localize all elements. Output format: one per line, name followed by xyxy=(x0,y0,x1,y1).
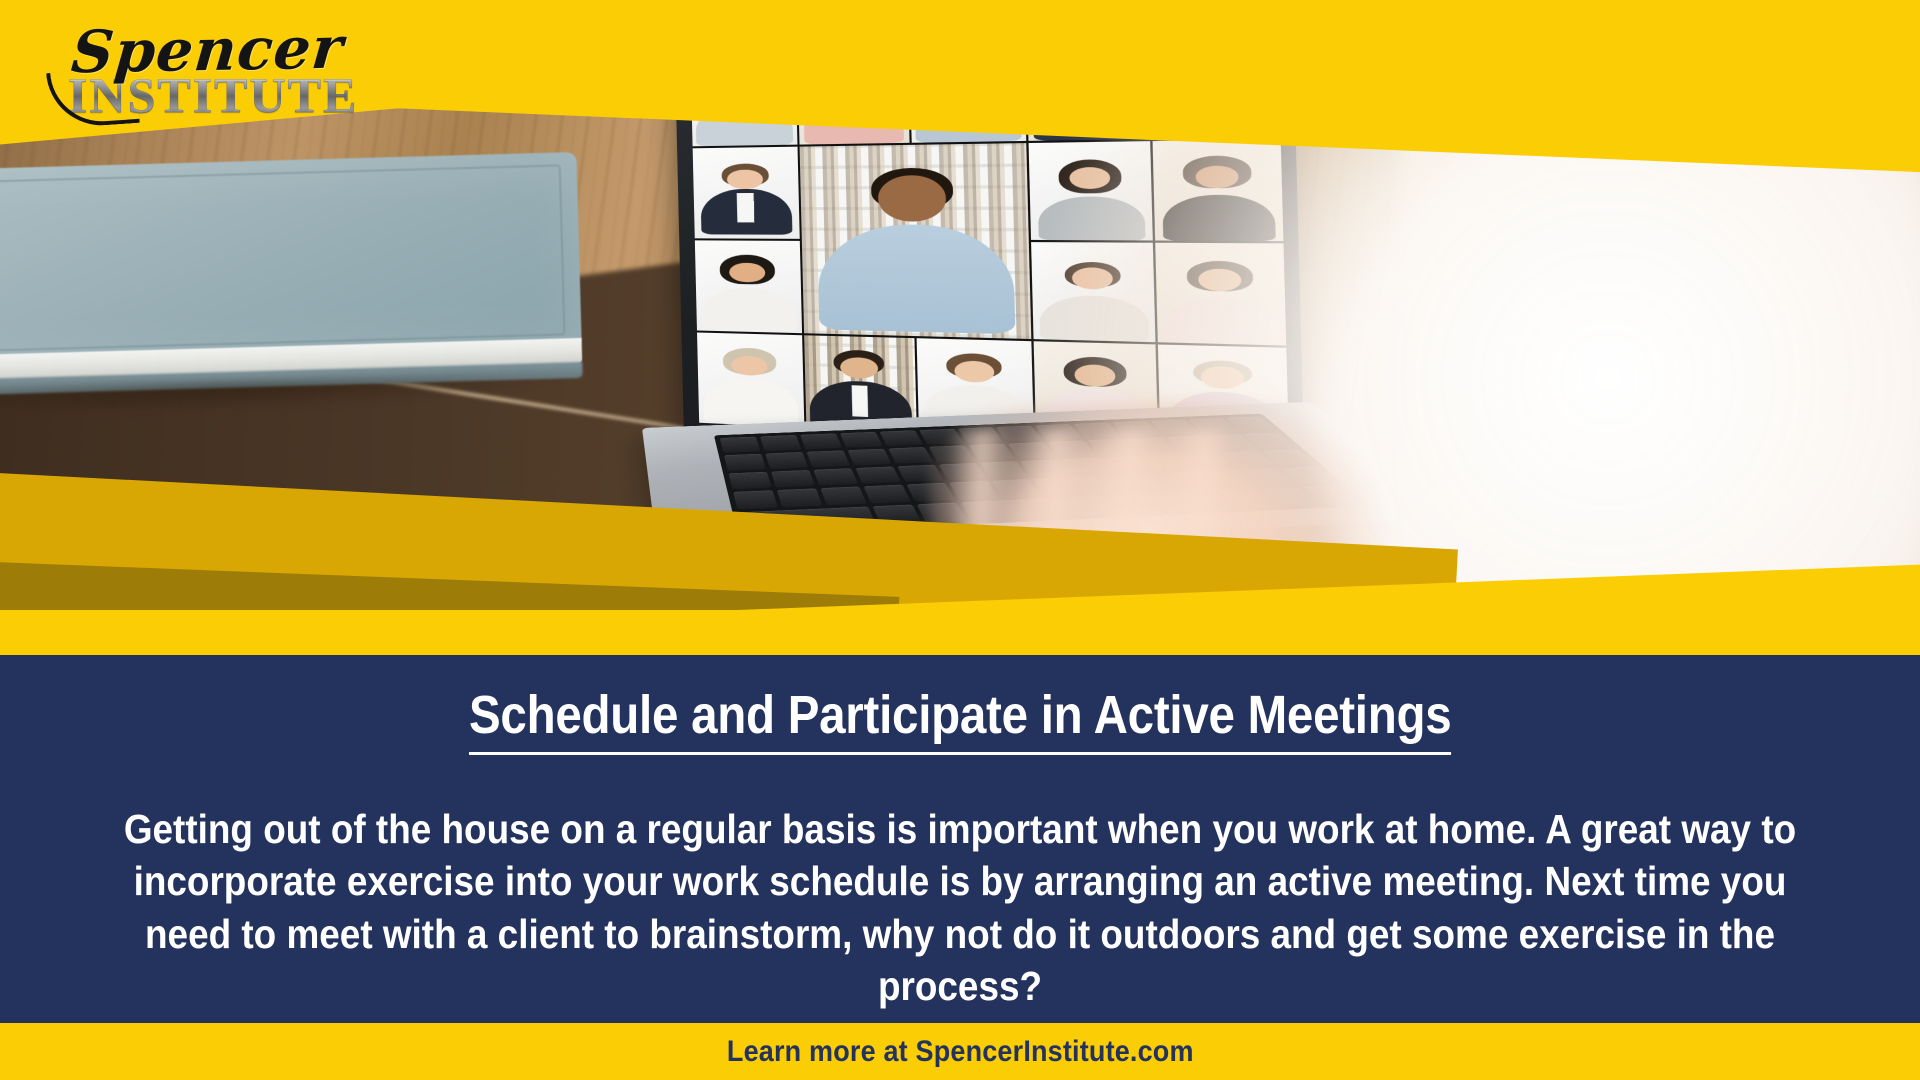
participant-tile xyxy=(697,332,804,427)
body-paragraph: Getting out of the house on a regular ba… xyxy=(114,803,1806,1013)
page-title: Schedule and Participate in Active Meeti… xyxy=(469,687,1451,755)
slide-canvas: INSTITUTE Spencer Schedule and Participa… xyxy=(0,0,1920,1080)
participant-tile xyxy=(693,147,800,239)
notebook-cover xyxy=(0,152,582,367)
footer-cta-text[interactable]: Learn more at SpencerInstitute.com xyxy=(727,1035,1194,1069)
yellow-fill-bottom xyxy=(0,610,1920,655)
footer-bar: Learn more at SpencerInstitute.com xyxy=(0,1023,1920,1080)
content-panel: Schedule and Participate in Active Meeti… xyxy=(0,655,1920,1023)
hero-section: INSTITUTE Spencer xyxy=(0,0,1920,655)
featured-participant-tile xyxy=(799,143,1031,339)
participant-tile xyxy=(695,240,802,333)
notebook-book xyxy=(0,152,583,422)
